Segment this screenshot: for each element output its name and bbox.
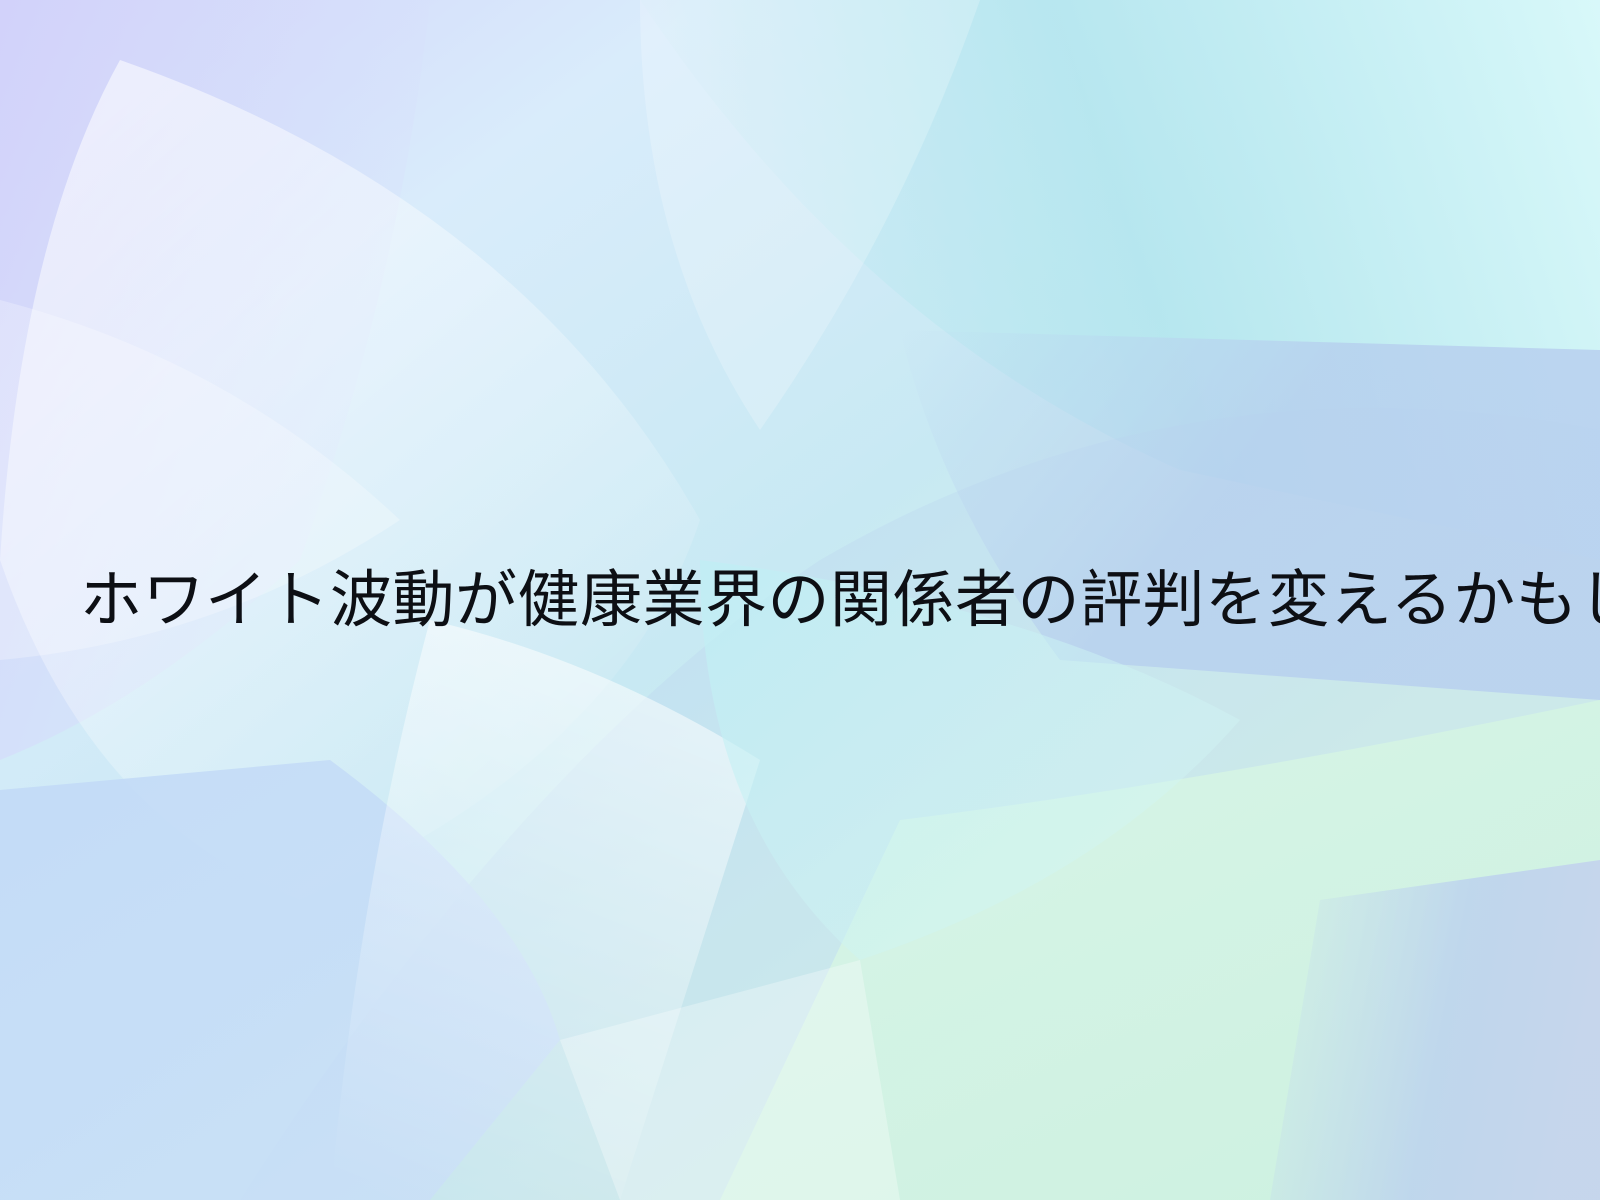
presentation-slide: ホワイト波動が健康業界の関係者の評判を変えるかもしれない理由 — [0, 0, 1600, 1200]
abstract-background-art — [0, 0, 1600, 1200]
shape-blue-band-bottom-right — [1270, 860, 1600, 1200]
